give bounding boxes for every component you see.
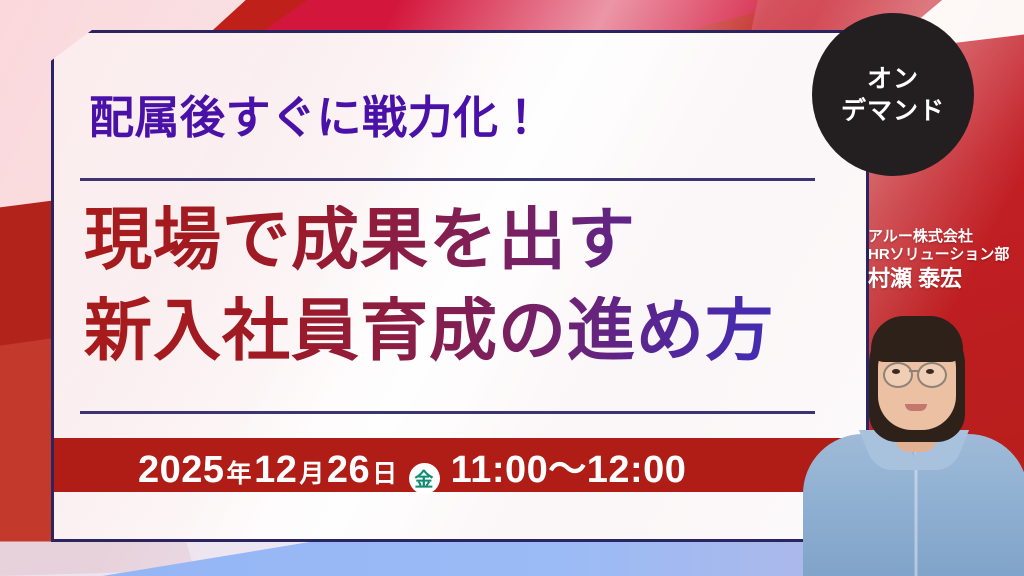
speaker-company: アルー株式会社 — [868, 228, 1024, 246]
on-demand-badge: オン デマンド — [812, 13, 974, 176]
schedule-bar: 2025 年 12 月 26 日 金 11:00〜12:00 — [54, 438, 866, 492]
title-line-2: 新入社員育成の進め方 — [84, 296, 844, 367]
schedule-time: 11:00〜12:00 — [449, 438, 687, 493]
card-content: 配属後すぐに戦力化！ 現場で成果を出す 新入社員育成の進め方 2025 年 12… — [54, 33, 866, 539]
schedule-day-unit: 日 — [370, 454, 400, 490]
weekday-badge: 金 — [409, 463, 440, 494]
badge-line-1: オン — [867, 63, 919, 95]
schedule-month-unit: 月 — [297, 454, 327, 490]
speaker-glasses-left — [883, 362, 913, 388]
schedule-year: 2025 — [138, 449, 225, 492]
schedule-day: 26 — [327, 449, 370, 492]
speaker-glasses-bridge — [909, 370, 919, 372]
speaker-portrait — [795, 300, 1024, 576]
speaker-eye-left — [892, 369, 900, 374]
divider-top — [80, 178, 815, 181]
schedule-text: 2025 年 12 月 26 日 金 11:00〜12:00 — [138, 438, 686, 493]
speaker-hair-top — [871, 316, 963, 362]
speaker-credit: アルー株式会社 HRソリューション部 村瀬 泰宏 — [868, 228, 1024, 292]
divider-bottom — [80, 411, 815, 414]
speaker-mouth — [905, 404, 927, 411]
subtitle: 配属後すぐに戦力化！ — [89, 95, 829, 140]
speaker-eye-right — [926, 369, 934, 374]
speaker-department: HRソリューション部 — [868, 246, 1024, 264]
speaker-name: 村瀬 泰宏 — [868, 266, 1024, 292]
schedule-year-unit: 年 — [225, 454, 255, 490]
title-card: 配属後すぐに戦力化！ 現場で成果を出す 新入社員育成の進め方 2025 年 12… — [51, 30, 869, 542]
title-line-1: 現場で成果を出す — [84, 205, 844, 276]
schedule-month: 12 — [254, 449, 297, 492]
webinar-banner: 配属後すぐに戦力化！ 現場で成果を出す 新入社員育成の進め方 2025 年 12… — [0, 0, 1024, 576]
speaker-glasses-right — [917, 362, 947, 388]
badge-line-2: デマンド — [841, 95, 945, 127]
